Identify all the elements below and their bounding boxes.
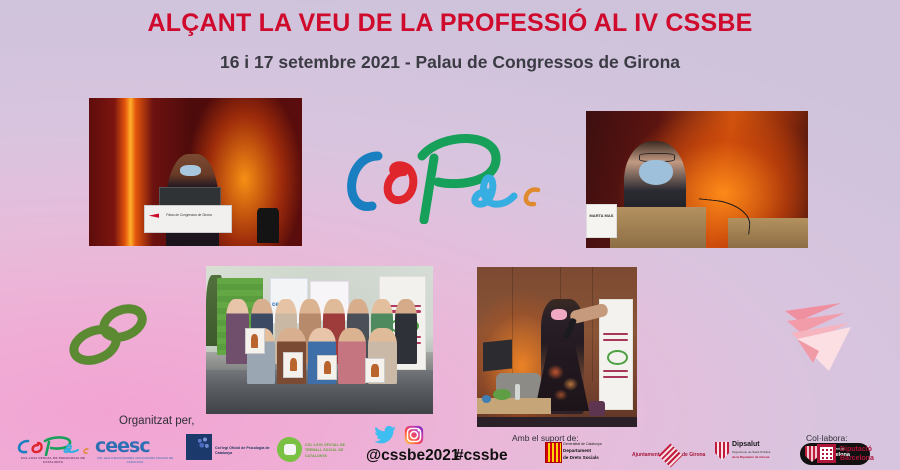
wall-panel-seam [592, 267, 593, 382]
logo-ajuntament-girona[interactable]: Ajuntament de Girona [632, 447, 708, 465]
stage-monitor [483, 339, 512, 371]
girona-line1: Ajuntament [632, 452, 660, 458]
social-handle[interactable]: @cssbe2021 [366, 447, 460, 465]
nameplate-text: MARTA MAS [588, 213, 615, 218]
copec-letter-c [526, 189, 538, 204]
girona-line2: de Girona [682, 452, 705, 458]
stage-edge [477, 417, 637, 427]
logo-copc[interactable]: Col·legi Oficial de Psicologia de Catalu… [186, 434, 274, 467]
generalitat-line1: Generalitat de Catalunya [563, 442, 602, 446]
stage-speaker-cabinet [257, 208, 278, 244]
handbag [589, 401, 605, 415]
diputacio-grid [820, 447, 833, 460]
photo-keynote [477, 267, 637, 427]
girona-shield-icon [658, 443, 682, 467]
dipsalut-crest-icon [715, 442, 729, 460]
social-hashtag[interactable]: #cssbe [455, 447, 508, 465]
copec-letter-e [65, 445, 78, 452]
generalitat-line3: de Drets Socials [563, 455, 599, 460]
framed-certificate [365, 358, 385, 384]
photo-panel-speaker: MARTA MAS [586, 111, 808, 248]
photo-speaker-podium: Palau de Congressos de Girona [89, 98, 302, 246]
copec-letter-o [33, 443, 42, 452]
tscat-inner-shape [284, 444, 296, 455]
senyera-flag-icon [545, 442, 562, 463]
instagram-camera-icon[interactable] [404, 425, 424, 445]
twitter-bird-icon[interactable] [374, 426, 396, 444]
logo-generalitat-catalunya[interactable]: Generalitat de Catalunya Departament de … [545, 442, 627, 466]
lectern-panel [144, 205, 231, 234]
logo-dipsalut[interactable]: Dipsalut Organisme de Salut Pública de l… [715, 441, 795, 466]
logo-tscat[interactable]: COL·LEGI OFICIAL DE TREBALL SOCIAL DE CA… [277, 436, 363, 466]
photo-group: ceesc [206, 266, 433, 414]
chain-link-right [100, 303, 147, 342]
logo-copec[interactable]: COL·LEGI OFICIAL DE PEDAGOGIA DE CATALUN… [14, 436, 92, 468]
dipsalut-line1: Dipsalut [732, 441, 760, 448]
copec-letter-C [19, 441, 28, 452]
logo-ceesc-caption: COL·LEGI D'EDUCADORES I EDUCADORS SOCIAL… [95, 456, 175, 464]
certificate-art [290, 358, 297, 371]
copec-brand-logo [338, 126, 548, 224]
logo-tscat-caption: COL·LEGI OFICIAL DE TREBALL SOCIAL DE CA… [305, 443, 363, 459]
tscat-mark [277, 437, 302, 462]
chain-link-left [69, 324, 120, 366]
organizers-label: Organitzat per, [119, 415, 194, 427]
dipsalut-line3: de la Diputació de Girona [732, 455, 769, 459]
banner-line-3 [603, 370, 629, 372]
generalitat-line2: Departament [563, 448, 591, 453]
banner-line-2 [603, 339, 629, 341]
water-bottle [515, 384, 520, 400]
copec-letter-c [84, 449, 88, 453]
framed-certificate [283, 352, 303, 378]
copec-small-wordmark [14, 436, 92, 456]
certificate-art [371, 364, 378, 377]
copec-letter-o [388, 165, 414, 200]
copc-figure-icon [195, 436, 211, 452]
logo-diputacio-barcelona[interactable]: Diputació Barcelona [817, 443, 895, 467]
face-mask [180, 165, 201, 177]
dipsalut-line2: Organisme de Salut Pública [732, 450, 770, 454]
page-title: ALÇANT LA VEU DE LA PROFESSIÓ AL IV CSSB… [0, 9, 900, 38]
person [338, 328, 366, 384]
banner-line-1 [603, 333, 629, 335]
nameplate: MARTA MAS [586, 204, 617, 238]
lectern-caption: Palau de Congressos de Girona [153, 213, 225, 217]
framed-certificate [317, 355, 337, 381]
event-poster: ALÇANT LA VEU DE LA PROFESSIÓ AL IV CSSB… [0, 0, 900, 470]
paper-plane-graphic [779, 293, 865, 375]
green-object [493, 389, 511, 400]
wall-panel-seam [512, 267, 513, 382]
face-mask [551, 309, 567, 320]
event-subtitle: 16 i 17 setembre 2021 - Palau de Congres… [0, 52, 900, 73]
chain-link-graphic [69, 301, 147, 367]
banner-infinity-mark [607, 350, 628, 365]
logo-ceesc[interactable]: ceesc COL·LEGI D'EDUCADORES I EDUCADORS … [95, 437, 175, 467]
social-icons [374, 425, 424, 445]
dibcn-line1: Diputació [840, 446, 872, 453]
copec-letter-C [352, 156, 378, 206]
dibcn-line2: Barcelona [840, 455, 874, 462]
collaborators-label: Col·labora: [806, 433, 848, 443]
logo-copec-caption: COL·LEGI OFICIAL DE PEDAGOGIA DE CATALUN… [16, 456, 90, 464]
certificate-art [324, 361, 331, 374]
face-mask [639, 160, 672, 185]
diputacio-mark-icon [817, 444, 836, 463]
panel-table [610, 207, 705, 248]
banner-line-4 [603, 376, 629, 378]
person [395, 299, 417, 364]
framed-certificate [245, 328, 265, 354]
logo-ceesc-wordmark: ceesc [95, 437, 150, 456]
logo-copc-caption: Col·legi Oficial de Psicologia de Catalu… [215, 446, 273, 456]
certificate-art [251, 334, 258, 347]
